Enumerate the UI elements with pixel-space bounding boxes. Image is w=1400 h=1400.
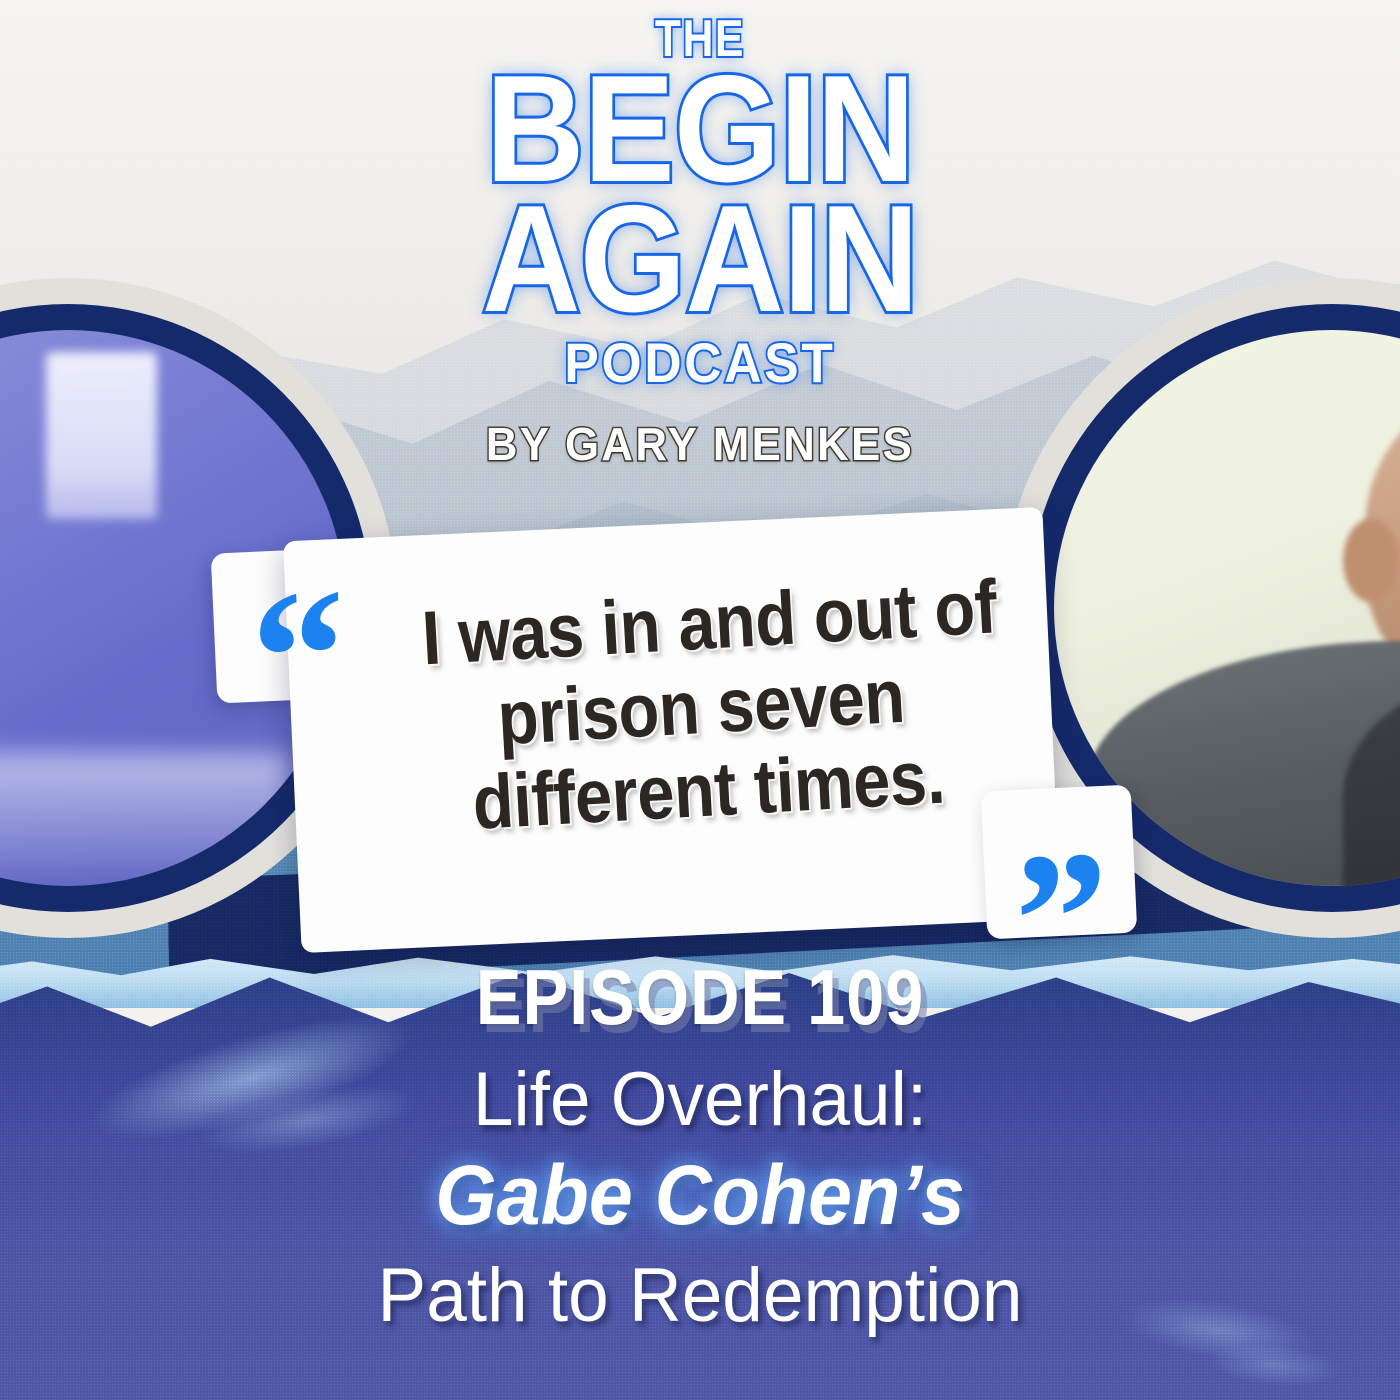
episode-title-line-3: Path to Redemption <box>28 1254 1372 1338</box>
logo-podcast-word: PODCAST <box>56 335 1344 391</box>
quote-text: I was in and out of prison seven differe… <box>320 561 1083 853</box>
episode-title-guest-name: Gabe Cohen’s <box>42 1150 1358 1241</box>
episode-title-line-1: Life Overhaul: <box>28 1058 1372 1142</box>
quote-card-group: “ I was in and out of prison seven diffe… <box>214 508 1134 948</box>
host-byline: BY GARY MENKES <box>35 421 1365 467</box>
episode-number: EPISODE 109 <box>84 958 1316 1036</box>
podcast-cover-art: THE BEGIN AGAIN PODCAST BY GARY MENKES “… <box>0 0 1400 1400</box>
podcast-logo: THE BEGIN AGAIN PODCAST BY GARY MENKES <box>0 16 1400 467</box>
logo-again: AGAIN <box>70 196 1330 324</box>
episode-info: EPISODE 109 Life Overhaul: Gabe Cohen’s … <box>0 958 1400 1338</box>
guest-ear-shape <box>1343 519 1399 602</box>
